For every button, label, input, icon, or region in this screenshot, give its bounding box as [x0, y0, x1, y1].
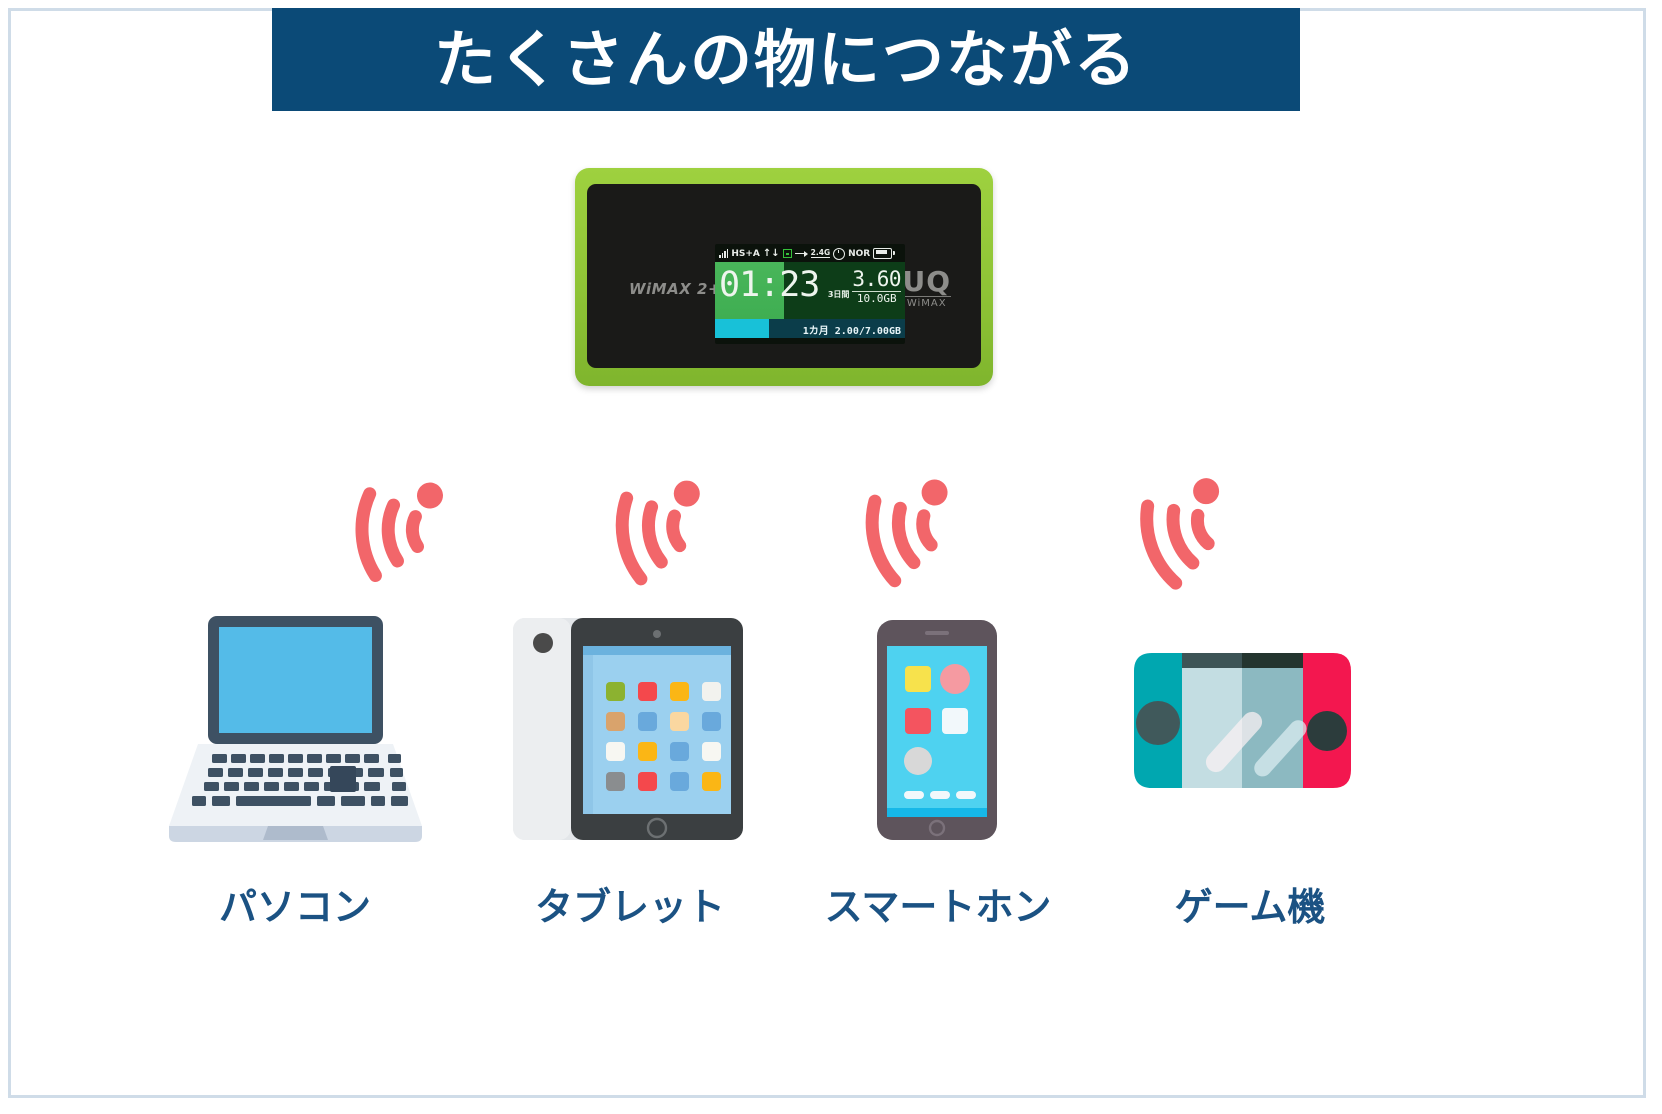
usage-month-text: 1カ月 2.00/7.00GB	[803, 322, 901, 337]
wifi-signal-icon-pc	[346, 461, 474, 589]
usage-3days-value: 3.60	[852, 269, 901, 290]
router-front-panel: WiMAX 2+ UQ WiMAX HS+A ↑↓ 2.4G NOR	[587, 184, 981, 368]
uq-logo-subtext: WiMAX	[902, 296, 951, 309]
lcd-status-bar: HS+A ↑↓ 2.4G NOR	[715, 244, 905, 262]
title-banner: たくさんの物につながる	[272, 8, 1300, 111]
usage-3days-label: 3日間	[828, 289, 850, 304]
game-console-icon	[1130, 653, 1355, 788]
router-uq-logo: UQ WiMAX	[902, 268, 951, 309]
battery-icon	[873, 248, 892, 259]
updown-arrows-icon: ↑↓	[763, 248, 780, 259]
wifi-signal-icon-tablet	[600, 455, 739, 594]
device-label-game: ゲーム機	[1090, 888, 1410, 926]
smartphone-icon	[873, 616, 1003, 844]
infographic-canvas: たくさんの物につながる WiMAX 2+ UQ WiMAX HS+A ↑↓ 2.…	[0, 0, 1662, 1114]
router-lcd-screen: HS+A ↑↓ 2.4G NOR 01:23 3日間 3.60	[715, 244, 905, 344]
usb-icon	[795, 250, 808, 258]
device-label-pc: パソコン	[135, 888, 455, 926]
lcd-main-area: 01:23 3日間 3.60 10.0GB	[715, 262, 905, 319]
laptop-icon	[160, 608, 430, 848]
wimax-router: WiMAX 2+ UQ WiMAX HS+A ↑↓ 2.4G NOR	[575, 168, 993, 386]
lcd-time-value: 01:23	[719, 268, 819, 303]
usage-3days-block: 3.60 10.0GB	[852, 269, 901, 304]
usage-3days-limit: 10.0GB	[852, 291, 901, 304]
router-brand-label: WiMAX 2+	[629, 280, 721, 298]
lcd-usage-3days: 3日間 3.60 10.0GB	[828, 269, 901, 304]
wifi-band-label: 2.4G	[811, 249, 830, 259]
signal-strength-icon	[719, 249, 728, 258]
lcd-month-usage-bar: 1カ月 2.00/7.00GB	[715, 319, 905, 338]
sim-card-icon	[783, 249, 792, 258]
page-title: たくさんの物につながる	[434, 29, 1138, 91]
tablet-icon	[505, 612, 755, 844]
device-label-smartphone: スマートホン	[778, 888, 1098, 926]
power-mode-label: NOR	[848, 249, 870, 259]
clock-icon	[833, 248, 845, 260]
lcd-month-usage-fill	[715, 319, 769, 338]
network-type-label: HS+A	[731, 249, 760, 259]
uq-logo-text: UQ	[902, 268, 951, 296]
device-label-tablet: タブレット	[470, 888, 790, 926]
